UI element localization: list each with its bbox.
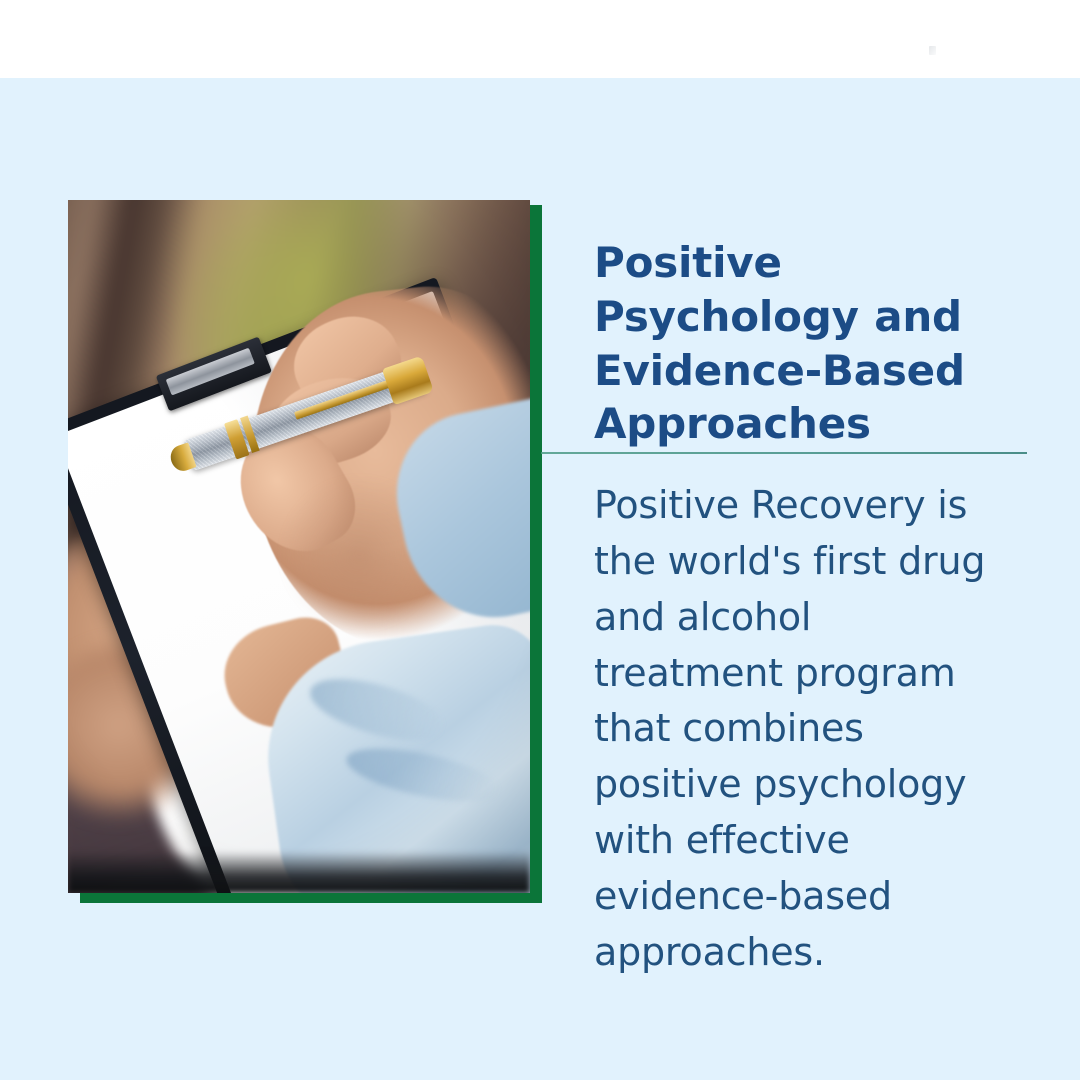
accent-bar-vertical [530,205,542,903]
headline-column: Positive Psychology and Evidence-Based A… [594,236,1028,451]
poster-canvas: Positive Psychology and Evidence-Based A… [0,0,1080,1080]
page-title: Positive Psychology and Evidence-Based A… [594,236,1028,451]
top-white-band [0,0,1080,78]
body-column: Positive Recovery is the world's first d… [594,478,994,981]
photo-bottom-shadow [68,851,530,893]
body-paragraph: Positive Recovery is the world's first d… [594,478,994,981]
section-divider [541,452,1027,454]
cursor-artifact-icon [929,46,936,55]
clipboard-photo [68,200,530,893]
